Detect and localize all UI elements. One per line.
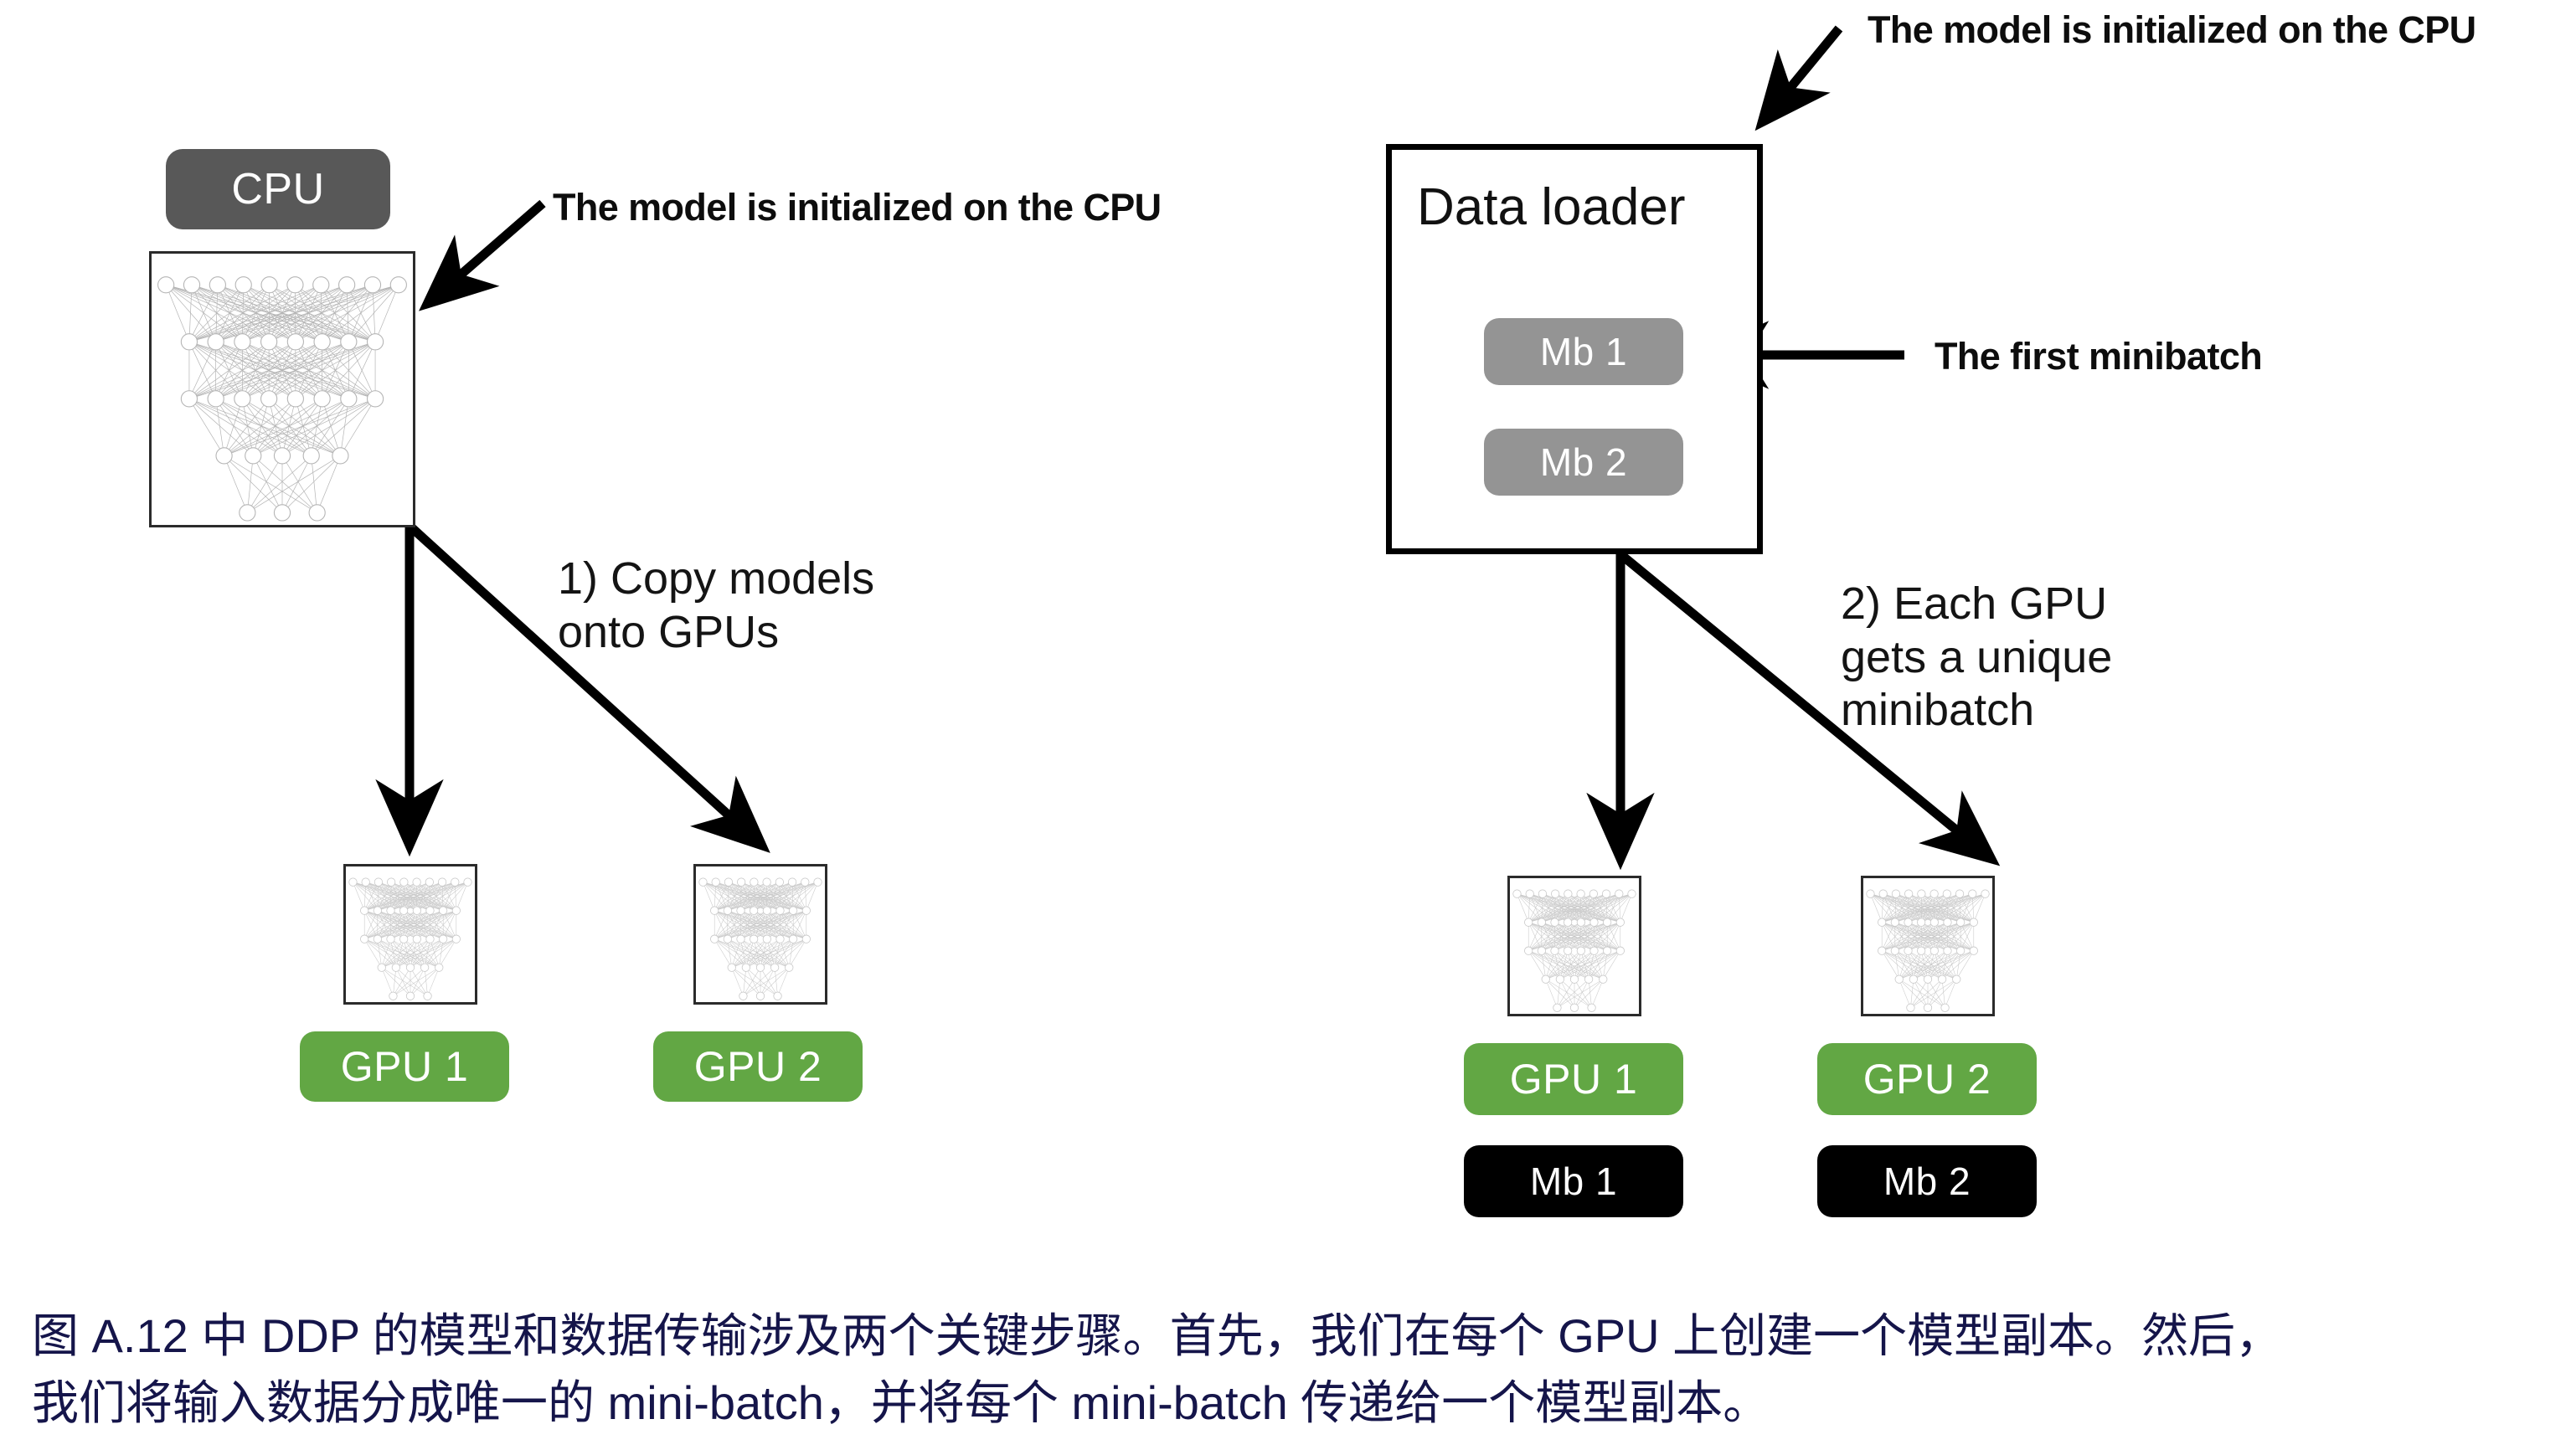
step-label-each-gpu-unique-minibatch: 2) Each GPU gets a unique minibatch (1841, 578, 2112, 738)
annotation-model-initialized-left: The model is initialized on the CPU (553, 186, 1162, 229)
step-label-copy-models: 1) Copy models onto GPUs (558, 553, 874, 659)
minibatch-badge-label: Mb 1 (1530, 1159, 1617, 1204)
gpu-badge-label: GPU 2 (1863, 1055, 1991, 1103)
minibatch-badge-2-loader: Mb 2 (1484, 429, 1683, 496)
annotation-first-minibatch: The first minibatch (1935, 335, 2262, 378)
gpu-badge-label: GPU 1 (1510, 1055, 1638, 1103)
gpu-badge-label: GPU 2 (694, 1042, 822, 1091)
cpu-badge-label: CPU (231, 164, 324, 214)
neural-network-illustration (1510, 878, 1639, 1014)
arrow-model-init-right (1762, 28, 1839, 122)
gpu-badge-2-left: GPU 2 (653, 1031, 863, 1102)
minibatch-badge-label: Mb 2 (1883, 1159, 1971, 1204)
figure-caption: 图 A.12 中 DDP 的模型和数据传输涉及两个关键步骤。首先，我们在每个 G… (32, 1303, 2561, 1436)
gpu-badge-1-right: GPU 1 (1464, 1043, 1683, 1115)
gpu-badge-label: GPU 1 (341, 1042, 469, 1091)
gpu2-model-box-left (693, 864, 827, 1005)
minibatch-badge-gpu1: Mb 1 (1464, 1145, 1683, 1217)
neural-network-illustration (1863, 878, 1992, 1014)
annotation-model-initialized-right: The model is initialized on the CPU (1868, 8, 2476, 52)
gpu2-model-box-right (1861, 876, 1995, 1016)
neural-network-illustration (696, 866, 825, 1002)
minibatch-badge-1-loader: Mb 1 (1484, 318, 1683, 385)
arrow-model-init-left (427, 203, 543, 304)
data-loader-title: Data loader (1417, 177, 1686, 237)
minibatch-badge-label: Mb 1 (1540, 329, 1627, 374)
gpu-badge-1-left: GPU 1 (300, 1031, 509, 1102)
gpu1-model-box-right (1507, 876, 1641, 1016)
gpu1-model-box-left (343, 864, 477, 1005)
minibatch-badge-gpu2: Mb 2 (1817, 1145, 2037, 1217)
cpu-badge: CPU (166, 149, 390, 229)
neural-network-illustration (346, 866, 475, 1002)
gpu-badge-2-right: GPU 2 (1817, 1043, 2037, 1115)
cpu-model-box (149, 251, 415, 527)
neural-network-illustration (152, 254, 413, 525)
minibatch-badge-label: Mb 2 (1540, 440, 1627, 485)
figure-canvas: CPU The model is initialized on the CPU … (0, 0, 2576, 1450)
